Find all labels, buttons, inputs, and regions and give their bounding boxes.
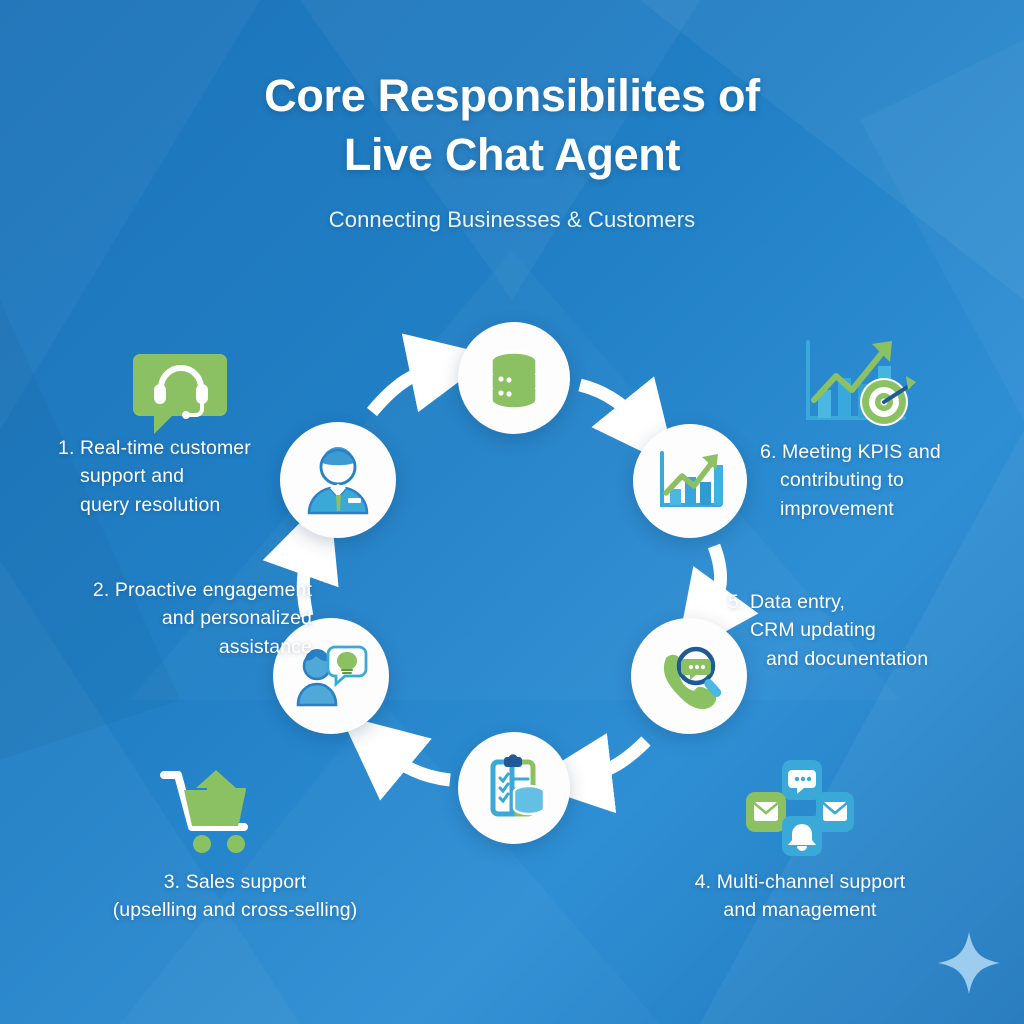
arrow-4 <box>578 741 646 777</box>
step-5-line-1: 5. Data entry, <box>728 588 988 616</box>
step-label-2: 2. Proactive engagement and personalized… <box>60 576 312 661</box>
multi-channel-tiles-icon <box>744 758 854 858</box>
arrow-5 <box>380 748 450 780</box>
database-stack-icon <box>480 344 548 412</box>
step-2-line-2: and personalized <box>60 604 312 632</box>
step-2-line-3: assistance <box>60 633 312 661</box>
step-6-line-2: contributing to <box>760 466 1010 494</box>
shopping-cart-up-icon <box>160 766 270 858</box>
step-label-3: 3. Sales support (upselling and cross-se… <box>80 868 390 925</box>
step-5-line-3: and docunentation <box>728 645 988 673</box>
step-6-line-1: 6. Meeting KPIS and <box>760 438 1010 466</box>
chart-target-icon <box>800 338 918 430</box>
step-4-line-1: 4. Multi-channel support <box>650 868 950 896</box>
step-6-line-3: improvement <box>760 495 1010 523</box>
sparkle-icon <box>936 930 1002 996</box>
arrow-2 <box>580 385 644 428</box>
step-3-line-2: (upselling and cross-selling) <box>80 896 390 924</box>
chat-headset-icon <box>134 348 226 436</box>
step-label-5: 5. Data entry, CRM updating and docunent… <box>728 588 988 673</box>
step-4-line-2: and management <box>650 896 950 924</box>
phone-chat-search-icon <box>652 642 726 710</box>
database-node[interactable] <box>458 322 570 434</box>
step-5-line-2: CRM updating <box>728 616 988 644</box>
step-2-line-1: 2. Proactive engagement <box>60 576 312 604</box>
arrow-3 <box>706 546 721 617</box>
growth-chart-icon <box>654 447 726 515</box>
step-1-line-1: 1. Real-time customer <box>58 434 308 462</box>
infographic-canvas: Core Responsibilites of Live Chat Agent … <box>0 0 1024 1024</box>
step-label-6: 6. Meeting KPIS and contributing to impr… <box>760 438 1010 523</box>
clipboard-checklist-database-icon <box>479 754 549 822</box>
step-label-1: 1. Real-time customer support and query … <box>58 434 308 519</box>
growth-chart-node[interactable] <box>633 424 747 538</box>
step-3-line-1: 3. Sales support <box>80 868 390 896</box>
step-1-line-2: support and <box>58 462 308 490</box>
step-label-4: 4. Multi-channel support and management <box>650 868 950 925</box>
arrow-1 <box>372 366 443 412</box>
clipboard-node[interactable] <box>458 732 570 844</box>
step-1-line-3: query resolution <box>58 491 308 519</box>
support-agent-icon <box>302 445 374 515</box>
